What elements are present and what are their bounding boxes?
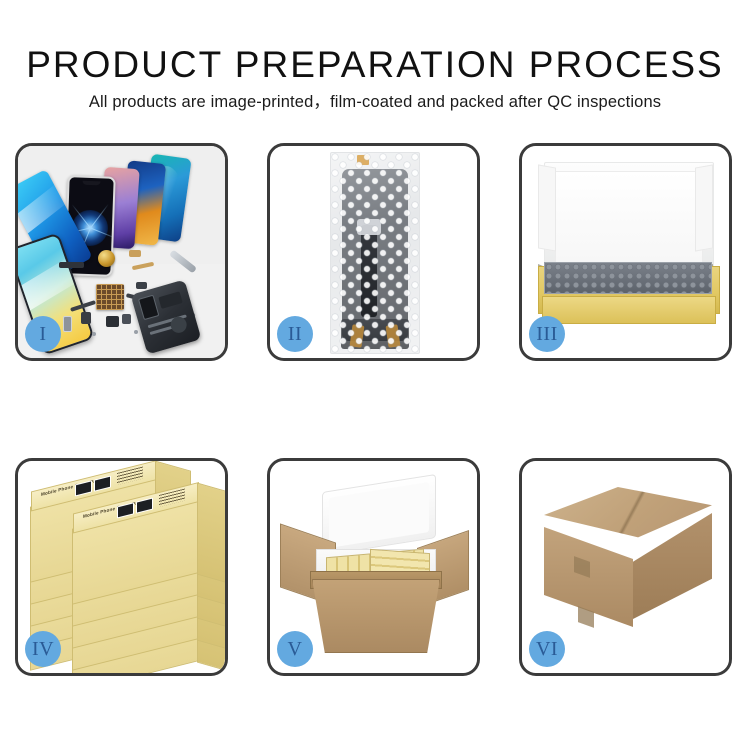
step-badge-6: VI — [529, 631, 565, 667]
box-flap-right — [695, 164, 713, 251]
process-step-panel-5: V — [267, 458, 480, 676]
page-title: PRODUCT PREPARATION PROCESS — [0, 46, 750, 83]
foam-lid — [322, 474, 436, 556]
phone-notch — [82, 181, 100, 186]
step-badge-2: II — [277, 316, 313, 352]
battery-component-icon — [63, 316, 72, 332]
small-component-icon — [106, 316, 119, 327]
step-badge-3: III — [529, 316, 565, 352]
box-foam-lid — [544, 162, 714, 274]
process-step-panel-4: Mobile Phone Spare Parts Mobile Pho — [15, 458, 228, 676]
product-preparation-process-page: PRODUCT PREPARATION PROCESS All products… — [0, 0, 750, 750]
step-badge-4: IV — [25, 631, 61, 667]
component-bar-icon — [59, 262, 84, 268]
process-step-grid: I II — [15, 143, 735, 676]
box-stack: Mobile Phone Spare Parts Mobile Pho — [30, 483, 220, 663]
process-step-panel-2: II — [267, 143, 480, 361]
small-component-icon — [81, 312, 91, 324]
chip-grid-icon — [96, 284, 124, 310]
page-subtitle: All products are image-printed，film-coat… — [0, 88, 750, 112]
carton-body — [312, 579, 440, 653]
phone-back-housing-icon — [131, 279, 202, 354]
process-step-panel-3: III — [519, 143, 732, 361]
step-badge-1: I — [25, 316, 61, 352]
box-flap-left — [538, 164, 556, 251]
screw-icon — [134, 330, 138, 334]
process-step-panel-1: I — [15, 143, 228, 361]
gold-contact-icon — [129, 250, 141, 257]
bubble-texture — [331, 153, 419, 353]
screw-icon — [92, 332, 96, 336]
step-badge-5: V — [277, 631, 313, 667]
process-step-panel-6: VI — [519, 458, 732, 676]
bubble-wrap-bag — [330, 152, 420, 354]
wrapped-item-inside-box — [544, 262, 712, 294]
coil-component-icon — [98, 250, 115, 267]
small-component-icon — [122, 314, 131, 324]
box-front-face — [542, 296, 716, 324]
sealed-carton — [538, 487, 720, 647]
small-component-icon — [136, 282, 147, 289]
